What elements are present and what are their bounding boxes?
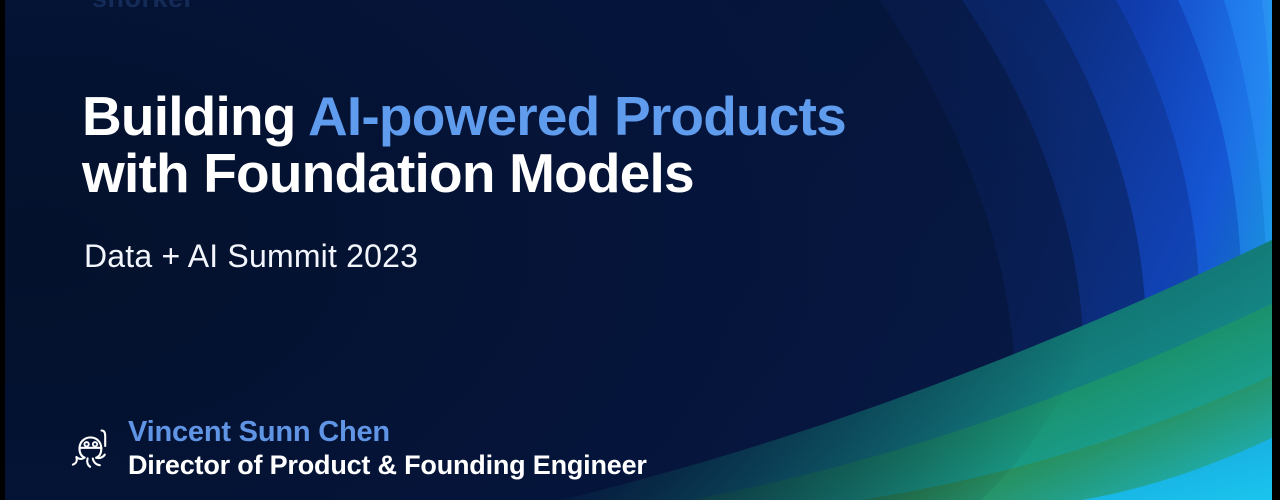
speaker-name: Vincent Sunn Chen	[128, 418, 647, 447]
event-subtitle: Data + AI Summit 2023	[84, 238, 418, 275]
letterbox-bar-right	[1272, 0, 1280, 500]
brand-logo-wordmark: snorkel	[92, 0, 192, 14]
octopus-snorkel-icon	[68, 424, 114, 474]
title-line-2: with Foundation Models	[82, 145, 962, 202]
title-line-1-prefix: Building	[82, 85, 308, 147]
letterbox-bar-left	[0, 0, 5, 500]
page-title: Building AI-powered Products with Founda…	[82, 88, 962, 202]
title-slide: snorkel Building AI-powered Products wit…	[0, 0, 1280, 500]
title-line-1-accent: AI-powered Products	[308, 85, 846, 147]
speaker-role: Director of Product & Founding Engineer	[128, 452, 647, 479]
speaker-block: Vincent Sunn Chen Director of Product & …	[68, 418, 647, 479]
title-line-1: Building AI-powered Products	[82, 88, 962, 145]
